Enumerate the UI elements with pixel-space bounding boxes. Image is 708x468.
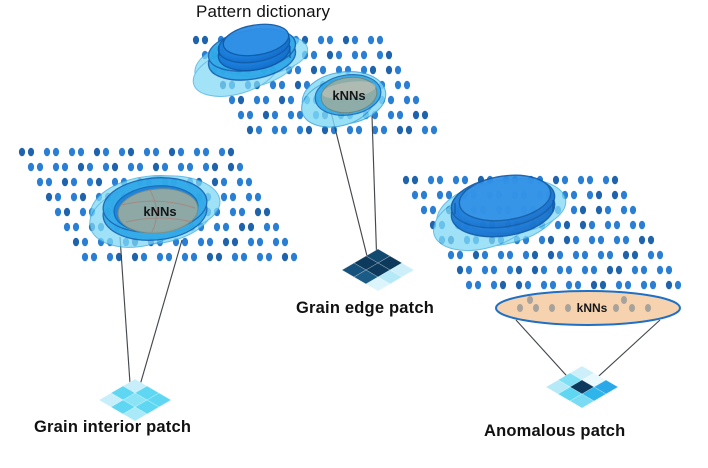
knn-group-top: kNNs <box>297 66 390 134</box>
patch-anomalous <box>546 366 618 408</box>
leader-lines <box>120 108 660 399</box>
patch-label-grain-interior: Grain interior patch <box>34 418 191 437</box>
cluster-right <box>426 170 568 261</box>
patch-grain-interior <box>99 379 171 421</box>
page-title: Pattern dictionary <box>196 2 330 22</box>
figure-canvas: kNNs kNNs <box>0 0 708 468</box>
knn-label-top: kNNs <box>332 88 365 103</box>
knn-group-right: kNNs <box>496 291 680 325</box>
patch-grain-edge <box>342 249 414 291</box>
diagram-svg: kNNs kNNs <box>0 0 708 468</box>
knn-label-right: kNNs <box>577 301 608 315</box>
cluster-top-center <box>188 20 311 105</box>
patch-label-anomalous: Anomalous patch <box>484 422 625 441</box>
patch-label-grain-edge: Grain edge patch <box>296 299 434 318</box>
knn-label-left: kNNs <box>143 204 176 219</box>
